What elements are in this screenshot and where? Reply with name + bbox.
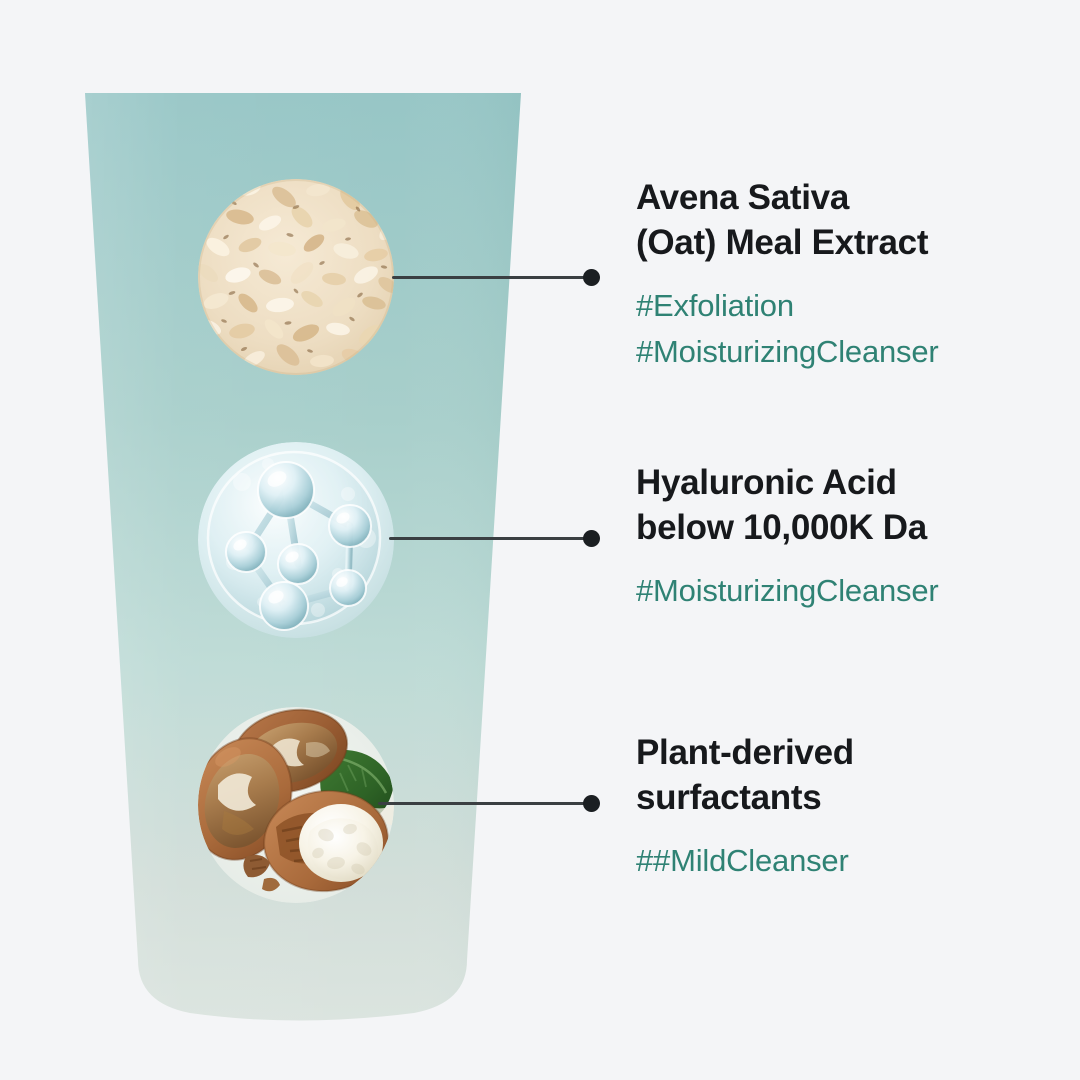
ingredient-icon-avena-sativa [198,179,394,375]
leader-dot-1 [583,269,600,286]
leader-line-1 [392,276,588,279]
ingredient-icon-hyaluronic-acid [198,442,394,638]
ingredient-title: Avena Sativa (Oat) Meal Extract [636,175,1046,265]
ingredient-icon-plant-derived-surfactants [198,707,394,903]
ingredient-text-hyaluronic-acid: Hyaluronic Acid below 10,000K Da #Moistu… [636,460,1046,614]
leader-line-3 [378,802,588,805]
ingredient-text-avena-sativa: Avena Sativa (Oat) Meal Extract #Exfolia… [636,175,1046,375]
hyaluronic-acid-molecule-icon [198,442,394,638]
ingredient-tags: ##MildCleanser [636,820,1046,884]
ingredient-tags: #MoisturizingCleanser [636,550,1046,614]
ingredient-infographic: Avena Sativa (Oat) Meal Extract #Exfolia… [0,0,1080,1080]
ingredient-title: Plant-derived surfactants [636,730,1046,820]
leader-dot-3 [583,795,600,812]
ingredient-title: Hyaluronic Acid below 10,000K Da [636,460,1046,550]
leader-line-2 [389,537,588,540]
ingredient-text-plant-derived-surfactants: Plant-derived surfactants ##MildCleanser [636,730,1046,884]
oat-flakes-icon [198,179,394,375]
ingredient-tags: #Exfoliation #MoisturizingCleanser [636,265,1046,375]
shea-nut-icon [198,707,394,903]
leader-dot-2 [583,530,600,547]
